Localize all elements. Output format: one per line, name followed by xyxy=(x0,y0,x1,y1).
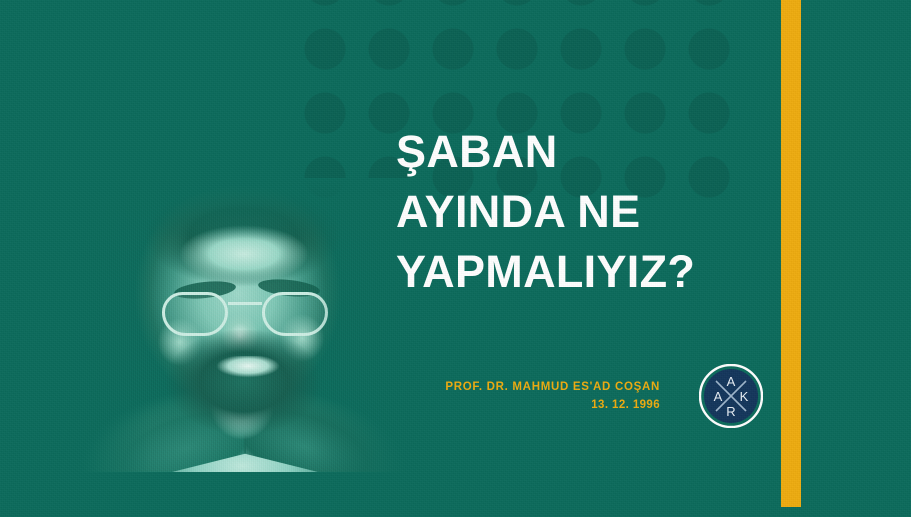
title-line-2: AYINDA NE xyxy=(396,182,776,242)
svg-text:R: R xyxy=(726,404,735,419)
portrait-fade-top xyxy=(62,178,422,242)
akra-logo-icon: A A K R xyxy=(699,364,763,428)
accent-bar xyxy=(781,0,801,507)
svg-text:A: A xyxy=(714,389,723,404)
title-slide: ŞABAN AYINDA NE YAPMALIYIZ? PROF. DR. MA… xyxy=(0,0,911,517)
slide-title: ŞABAN AYINDA NE YAPMALIYIZ? xyxy=(396,122,776,302)
speaker-name: PROF. DR. MAHMUD ES'AD COŞAN xyxy=(300,381,660,393)
title-line-3: YAPMALIYIZ? xyxy=(396,242,776,302)
credits-block: PROF. DR. MAHMUD ES'AD COŞAN 13. 12. 199… xyxy=(300,381,660,411)
title-line-1: ŞABAN xyxy=(396,122,776,182)
lecture-date: 13. 12. 1996 xyxy=(300,399,660,411)
svg-text:K: K xyxy=(740,389,749,404)
speaker-portrait xyxy=(62,178,422,472)
svg-text:A: A xyxy=(727,374,736,389)
